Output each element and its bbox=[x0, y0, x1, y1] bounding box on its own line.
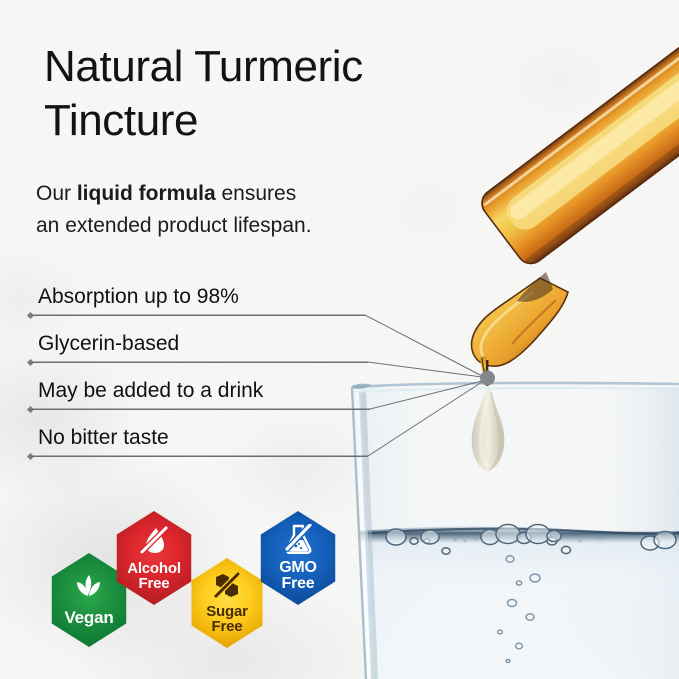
feature-label-glycerin: Glycerin-based bbox=[38, 332, 179, 356]
sugar-cubes-slash-icon bbox=[211, 572, 243, 603]
product-infographic: Natural Turmeric Tincture Our liquid for… bbox=[0, 0, 679, 679]
feature-rule-2 bbox=[31, 362, 368, 363]
page-title: Natural Turmeric Tincture bbox=[44, 40, 504, 148]
feature-rule-1 bbox=[31, 315, 365, 316]
feature-rule-4 bbox=[31, 456, 368, 457]
badge-gmo-free-label: GMO Free bbox=[279, 560, 317, 593]
page-subtitle: Our liquid formula ensures an extended p… bbox=[36, 178, 436, 242]
feature-label-no-bitter-taste: No bitter taste bbox=[38, 426, 169, 450]
feature-rule-3 bbox=[31, 409, 370, 410]
droplet-slash-icon bbox=[137, 525, 171, 560]
badge-sugar-free-label: Sugar Free bbox=[206, 604, 248, 635]
subtitle-line2: an extended product lifespan. bbox=[36, 214, 312, 237]
feature-label-add-to-drink: May be added to a drink bbox=[38, 379, 263, 403]
subtitle-suffix: ensures bbox=[216, 182, 297, 205]
flask-slash-icon bbox=[282, 524, 314, 559]
feature-label-absorption: Absorption up to 98% bbox=[38, 285, 239, 309]
subtitle-prefix: Our bbox=[36, 182, 77, 205]
subtitle-bold: liquid formula bbox=[77, 182, 216, 205]
leaf-icon bbox=[72, 573, 106, 608]
badge-alcohol-free-label: Alcohol Free bbox=[127, 561, 181, 592]
badge-vegan-label: Vegan bbox=[64, 609, 113, 626]
